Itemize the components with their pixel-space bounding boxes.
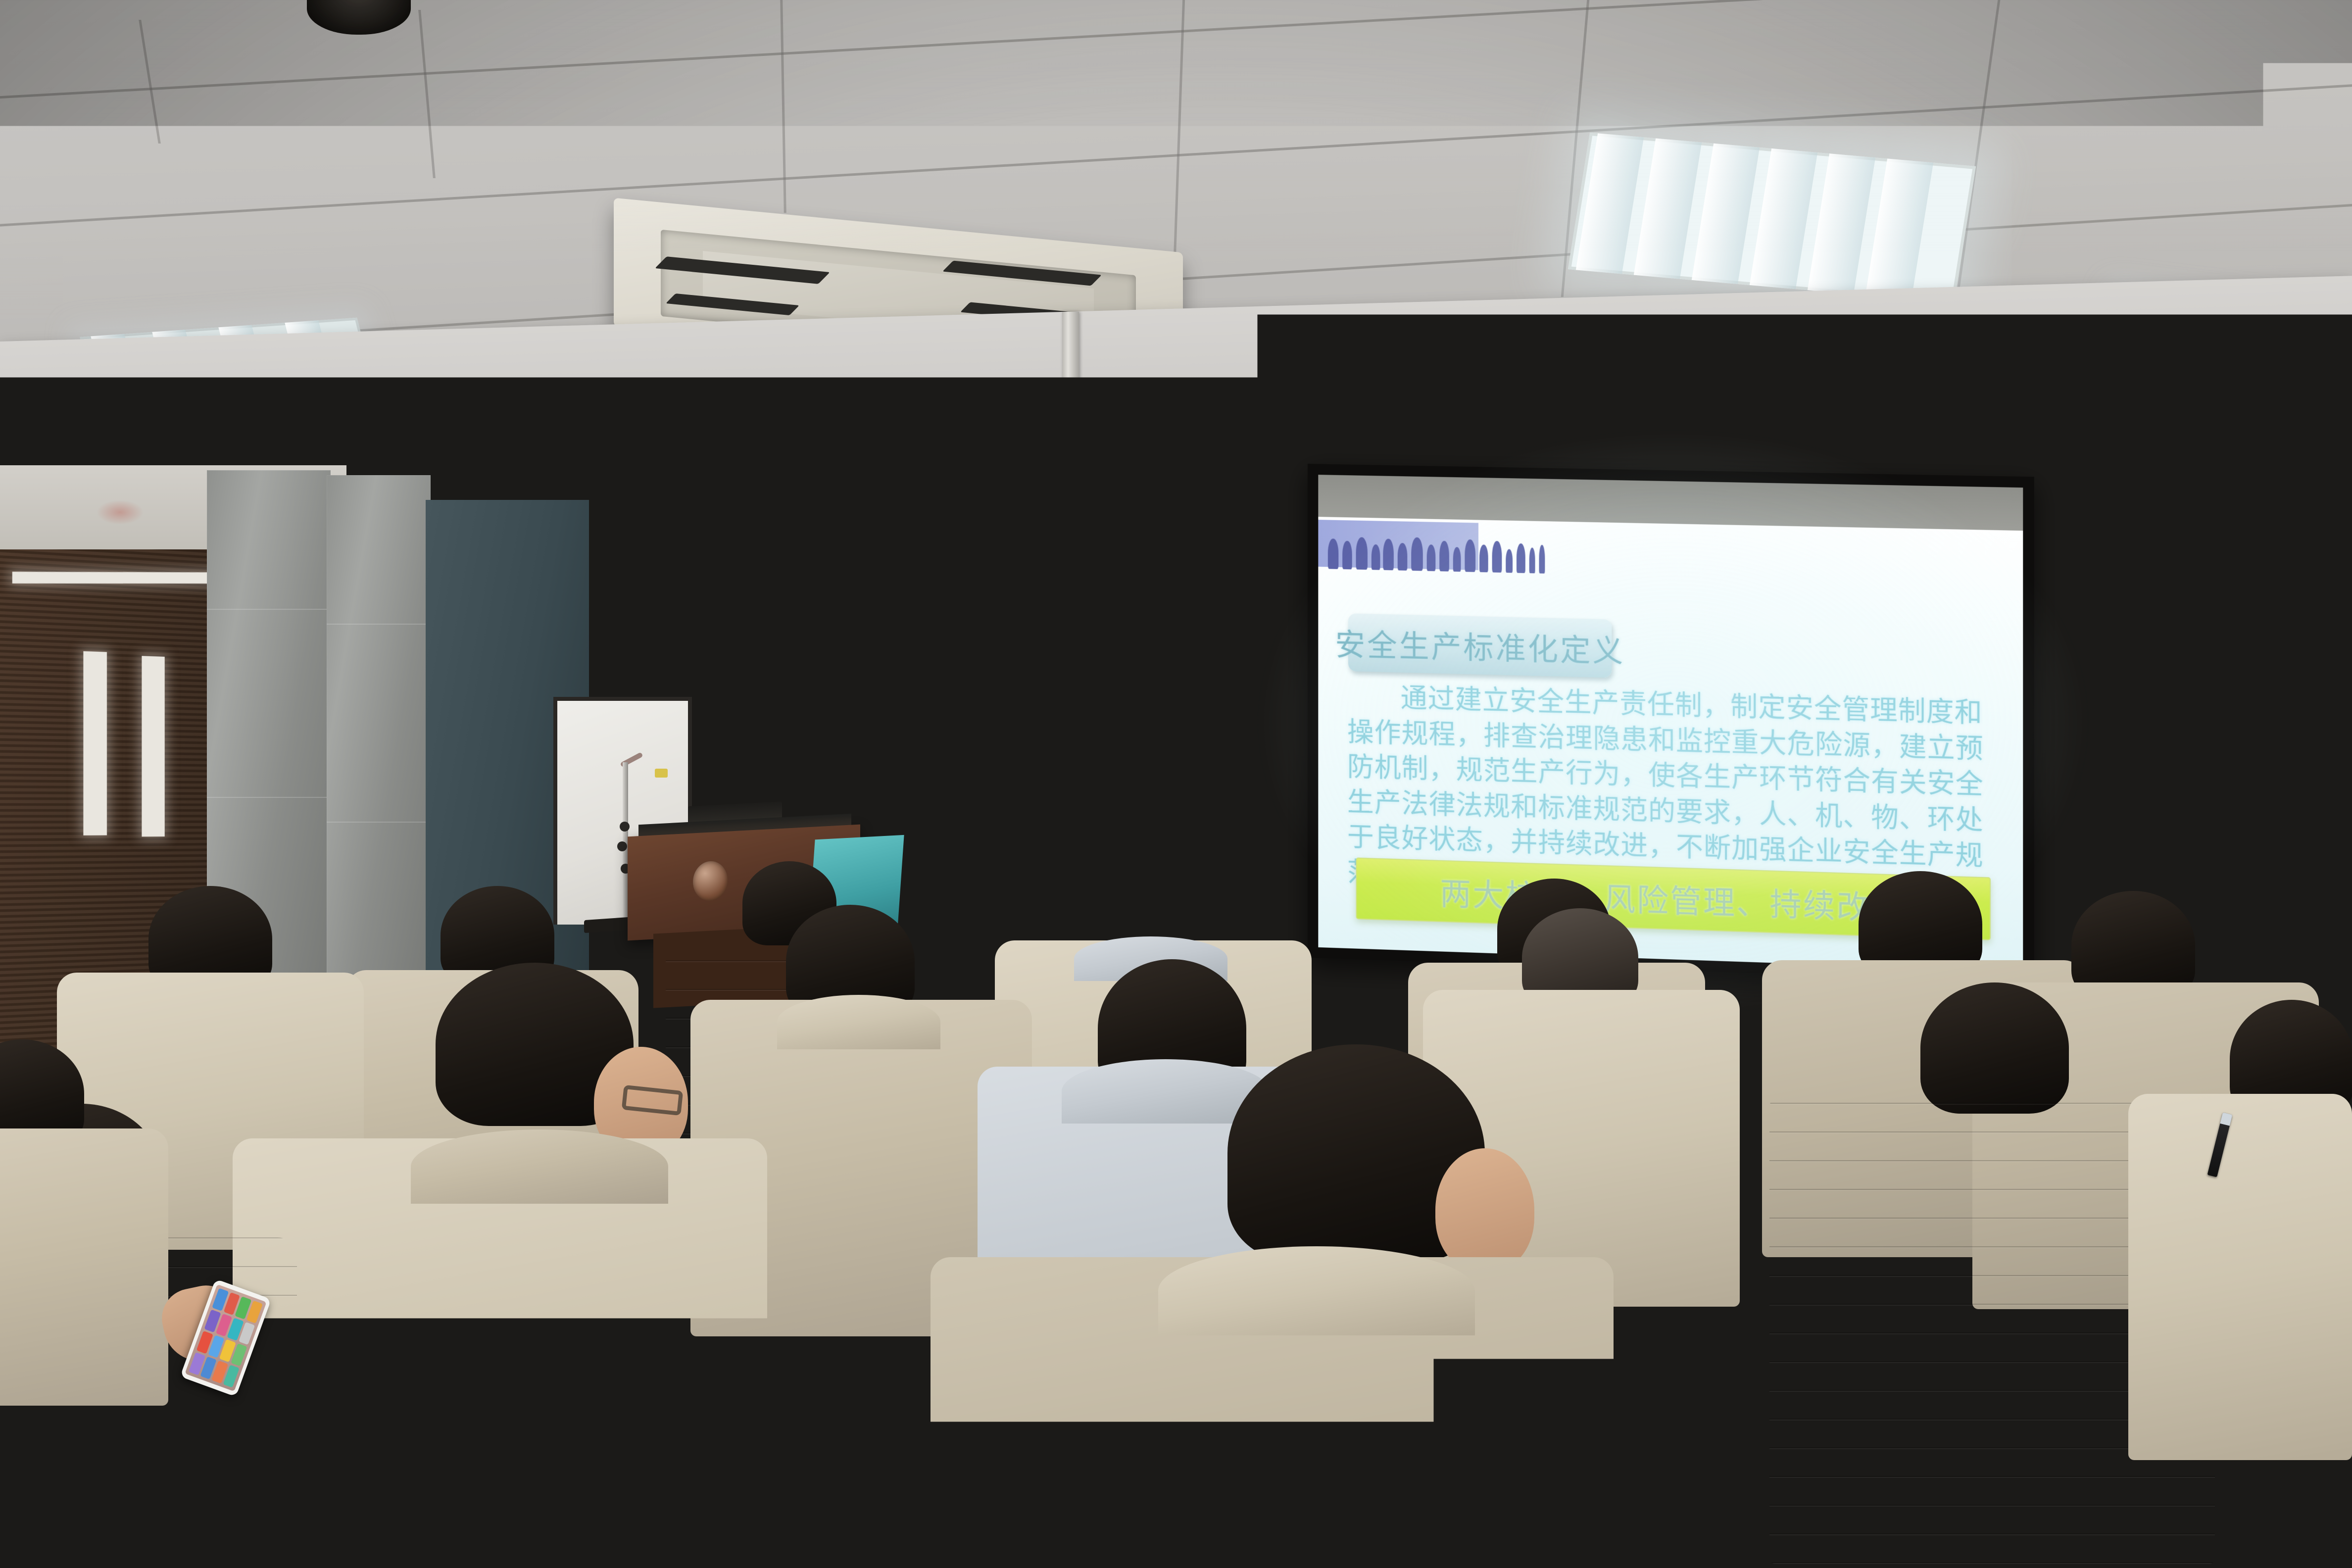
wall-cord bbox=[2062, 436, 2064, 562]
people-silhouette-icon bbox=[1325, 526, 1588, 574]
meeting-room-photo: 安全生产标准化定义 通过建立安全生产责任制，制定安全管理制度和操作规程，排查治理… bbox=[0, 0, 2352, 1568]
wall-pilaster bbox=[1020, 500, 1047, 1005]
mic-stand-knob bbox=[617, 841, 627, 851]
floor bbox=[0, 1505, 2352, 1568]
presenter-hair-side bbox=[852, 663, 875, 718]
wall-stain bbox=[97, 500, 144, 525]
mic-stand-knob bbox=[620, 822, 630, 832]
floor-tile-seam bbox=[2188, 1505, 2190, 1568]
whiteboard-magnet-icon bbox=[655, 769, 668, 778]
cable-clip bbox=[1663, 445, 1676, 455]
slide-title-box: 安全生产标准化定义 bbox=[1348, 613, 1612, 678]
tiled-column bbox=[327, 475, 431, 1010]
wall-pilaster bbox=[2232, 423, 2267, 1012]
slide-title: 安全生产标准化定义 bbox=[1335, 620, 1625, 671]
maroon-wall-panel bbox=[2267, 423, 2352, 1015]
